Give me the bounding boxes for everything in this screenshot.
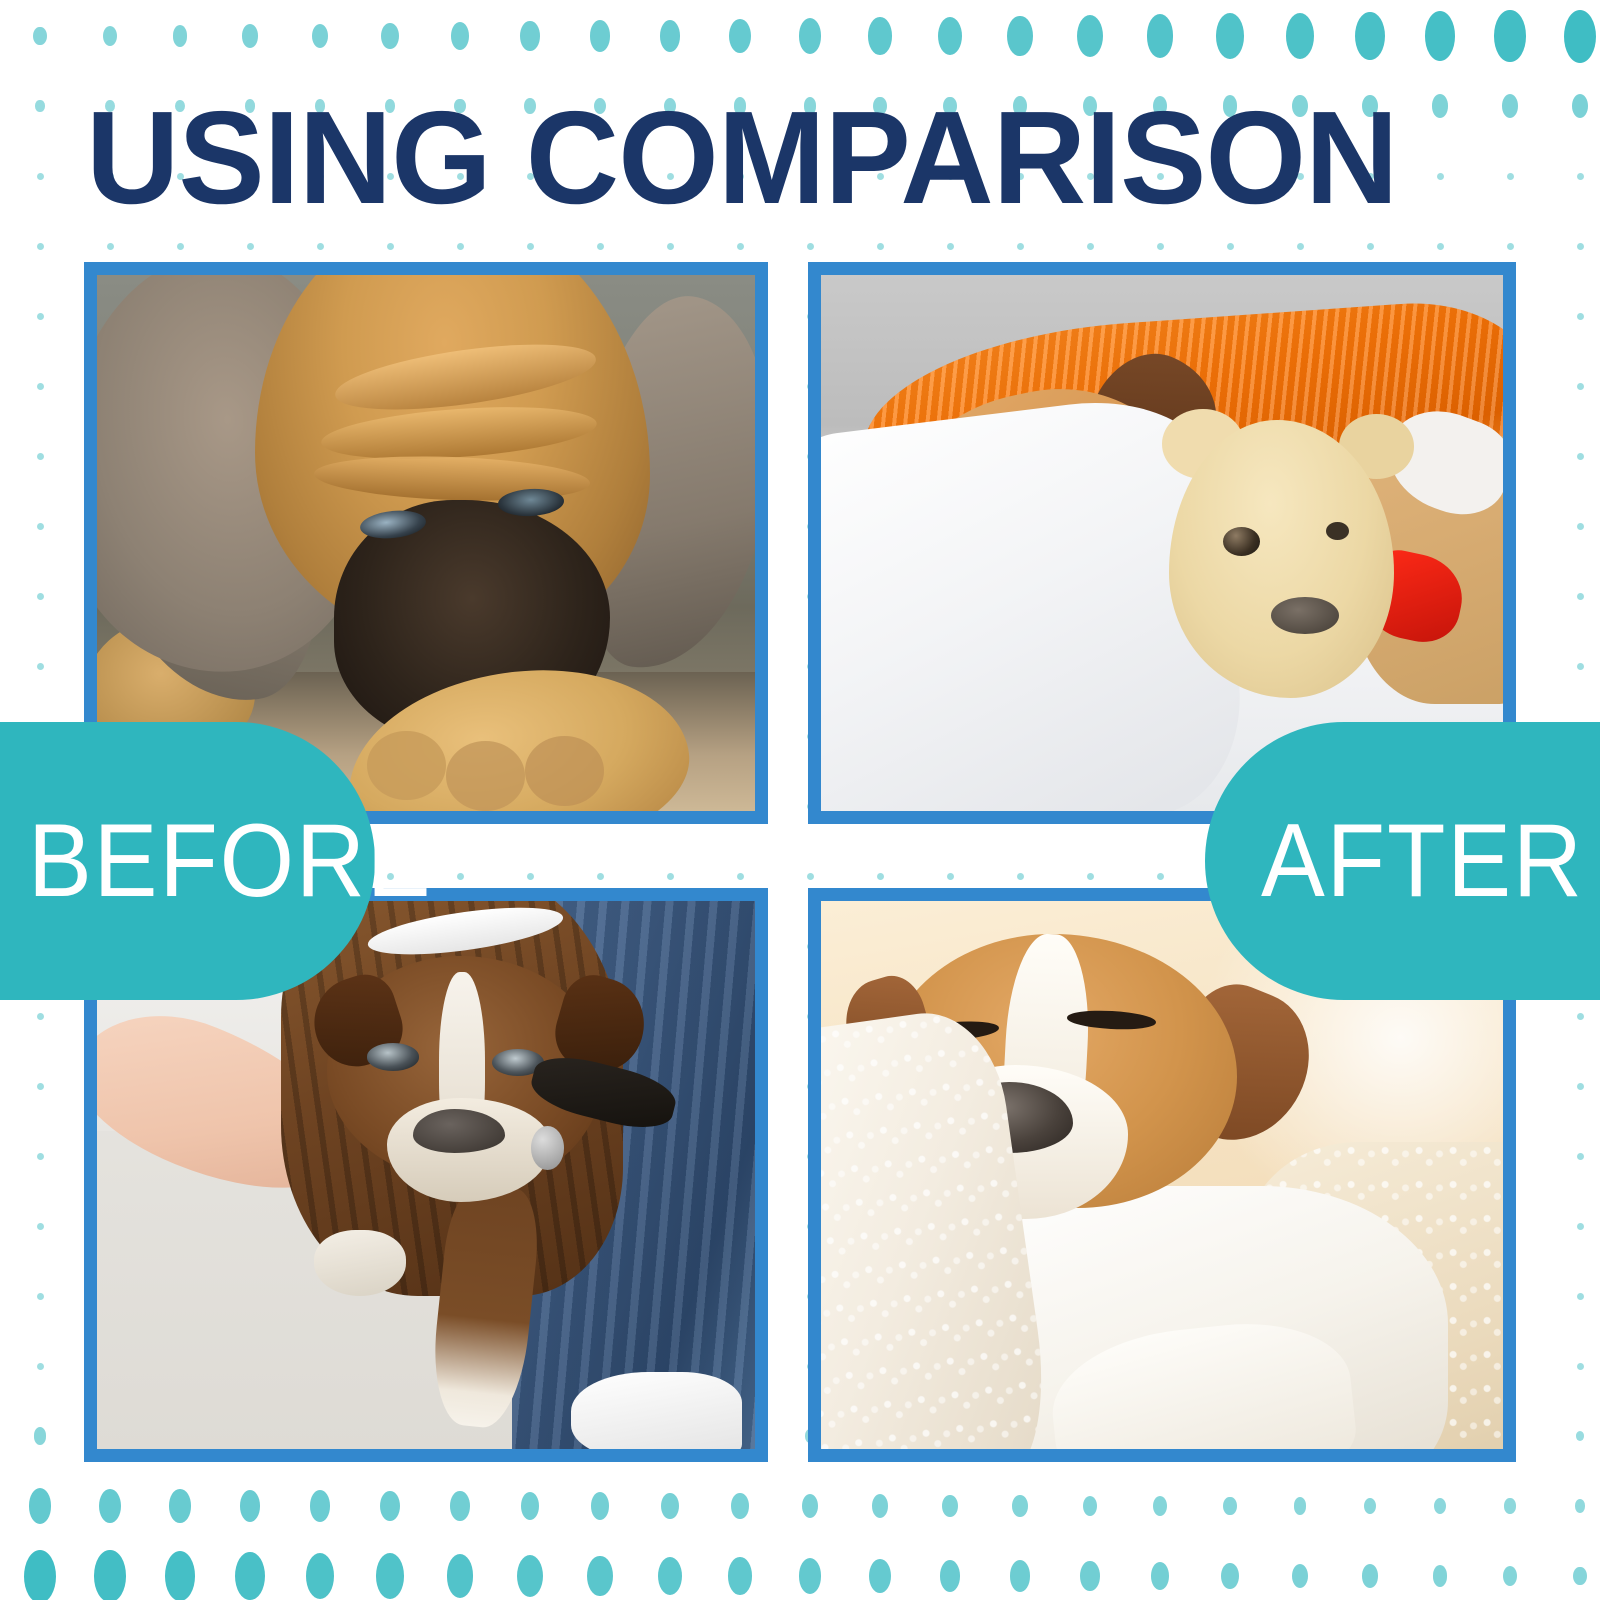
badge-after: AFTER — [1205, 722, 1600, 1000]
badge-before: BEFORE — [0, 722, 375, 1000]
poster-canvas: USING COMPARISON — [0, 0, 1600, 1600]
badge-before-label: BEFORE — [28, 809, 432, 913]
page-title: USING COMPARISON — [86, 92, 1398, 224]
badge-after-label: AFTER — [1261, 809, 1584, 913]
